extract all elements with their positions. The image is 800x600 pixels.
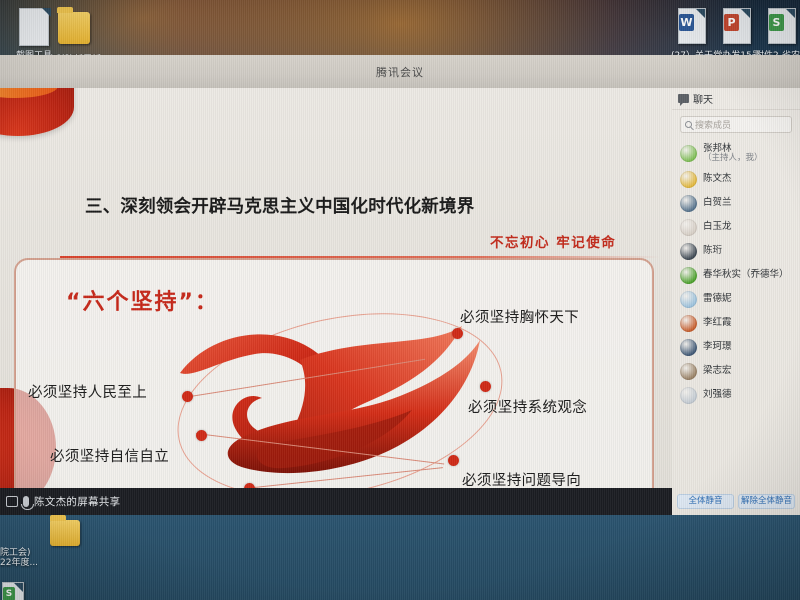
participant-role: （主持人，我） — [703, 154, 763, 164]
participant-name: 白贺兰 — [703, 198, 732, 209]
point-label-2: 必须坚持人民至上 — [28, 381, 147, 402]
desktop-icon-label-2: 22年度... — [0, 558, 70, 568]
desktop-icon-union-folder[interactable] — [50, 516, 120, 546]
avatar — [680, 243, 697, 260]
avatar — [680, 219, 697, 236]
participant-row[interactable]: 白贺兰 — [672, 192, 800, 216]
screen-photo: 截图工具 农科院新展板 W (27）关于 P 党办发15号 S 附件2-省农科 — [0, 0, 800, 600]
participant-name: 李珂璟 — [703, 342, 732, 353]
decorative-ribbon-top-left — [0, 88, 74, 136]
slide-motto: 不忘初心 牢记使命 — [490, 231, 616, 251]
avatar — [680, 363, 697, 380]
participant-row[interactable]: 陈文杰 — [672, 168, 800, 192]
window-title: 腾讯会议 — [376, 64, 424, 80]
avatar — [680, 339, 697, 356]
meeting-body: 三、深刻领会开辟马克思主义中国化时代化新境界 不忘初心 牢记使命 “六个坚持”： — [0, 88, 800, 515]
point-label-4: 必须坚持自信自立 — [50, 445, 169, 466]
word-badge: W — [679, 14, 694, 31]
mute-all-button[interactable]: 全体静音 — [677, 494, 734, 509]
participant-name: 梁志宏 — [703, 366, 732, 377]
panel-header: 聊天 — [672, 88, 800, 110]
participant-list[interactable]: 张邦林（主持人，我）陈文杰白贺兰白玉龙陈珩春华秋实（乔德华）雷德妮李红霞李珂璟梁… — [672, 140, 800, 475]
participant-row[interactable]: 春华秋实（乔德华） — [672, 264, 800, 288]
participant-name: 白玉龙 — [703, 222, 732, 233]
panel-action-buttons: 全体静音 解除全体静音 — [672, 494, 800, 509]
participant-row[interactable]: 梁志宏 — [672, 360, 800, 384]
tencent-meeting-window: 腾讯会议 三、深刻领会开辟马克思主义中国化时代化新境界 不忘初心 牢记使命 “六… — [0, 55, 800, 515]
search-placeholder: 搜索成员 — [695, 118, 731, 131]
avatar — [680, 387, 697, 404]
monitor-icon — [6, 496, 18, 507]
point-label-3: 必须坚持系统观念 — [468, 396, 587, 417]
chat-participants-panel: 聊天 搜索成员 张邦林（主持人，我）陈文杰白贺兰白玉龙陈珩春华秋实（乔德华）雷德… — [672, 88, 800, 515]
folder-icon — [57, 12, 91, 54]
point-label-1: 必须坚持胸怀天下 — [460, 306, 579, 327]
point-label-5: 必须坚持问题导向 — [462, 469, 581, 488]
screen-share-status-bar: 陈文杰的屏幕共享 — [0, 488, 672, 515]
point-dot-1 — [452, 328, 463, 339]
slide-title: 三、深刻领会开辟马克思主义中国化时代化新境界 — [85, 196, 485, 218]
avatar — [680, 267, 697, 284]
point-dot-3 — [480, 381, 491, 392]
spreadsheet-doc-icon: S — [765, 8, 799, 50]
participant-row[interactable]: 李红霞 — [672, 312, 800, 336]
participant-name: 陈珩 — [703, 246, 722, 257]
folder-icon — [50, 520, 80, 546]
participant-name: 李红霞 — [703, 318, 732, 329]
participant-name: 刘强德 — [703, 390, 732, 401]
participant-row[interactable]: 张邦林（主持人，我） — [672, 140, 800, 168]
participant-name: 陈文杰 — [703, 174, 732, 185]
search-member-input[interactable]: 搜索成员 — [680, 116, 792, 133]
point-dot-2 — [182, 391, 193, 402]
shared-screen-region[interactable]: 三、深刻领会开辟马克思主义中国化时代化新境界 不忘初心 牢记使命 “六个坚持”： — [0, 88, 672, 488]
participant-name: 春华秋实（乔德华） — [703, 270, 789, 281]
avatar — [680, 145, 697, 162]
share-status-text: 陈文杰的屏幕共享 — [34, 494, 120, 509]
powerpoint-doc-icon: P — [720, 8, 754, 50]
desktop-icon-spreadsheet-doc[interactable]: S 附件2-省农科 — [750, 8, 800, 61]
desktop-icon-spreadsheet-bottom[interactable]: S — [2, 582, 72, 600]
participant-row[interactable]: 刘强德 — [672, 384, 800, 408]
avatar — [680, 315, 697, 332]
participant-row[interactable]: 李珂璟 — [672, 336, 800, 360]
avatar — [680, 195, 697, 212]
powerpoint-badge: P — [724, 14, 739, 31]
point-dot-4 — [196, 430, 207, 441]
participant-row[interactable]: 雷德妮 — [672, 288, 800, 312]
spreadsheet-badge: S — [769, 14, 784, 31]
window-titlebar[interactable]: 腾讯会议 — [0, 55, 800, 88]
avatar — [680, 291, 697, 308]
section-heading: “六个坚持”： — [66, 284, 219, 316]
panel-header-title: 聊天 — [693, 91, 713, 106]
unmute-all-button[interactable]: 解除全体静音 — [738, 494, 795, 509]
participant-name: 雷德妮 — [703, 294, 732, 305]
desktop-icon-label: 院工会) — [0, 548, 70, 558]
chat-bubble-icon — [678, 94, 689, 103]
spreadsheet-doc-icon: S — [2, 582, 24, 600]
spreadsheet-badge: S — [3, 587, 15, 600]
search-icon — [685, 121, 692, 128]
word-doc-icon: W — [675, 8, 709, 50]
participant-row[interactable]: 陈珩 — [672, 240, 800, 264]
presentation-slide: 三、深刻领会开辟马克思主义中国化时代化新境界 不忘初心 牢记使命 “六个坚持”： — [0, 88, 672, 488]
participant-row[interactable]: 白玉龙 — [672, 216, 800, 240]
avatar — [680, 171, 697, 188]
microphone-icon[interactable] — [23, 496, 29, 507]
desktop-icon-union-label[interactable]: 院工会) 22年度... — [0, 548, 70, 569]
point-dot-5 — [448, 455, 459, 466]
